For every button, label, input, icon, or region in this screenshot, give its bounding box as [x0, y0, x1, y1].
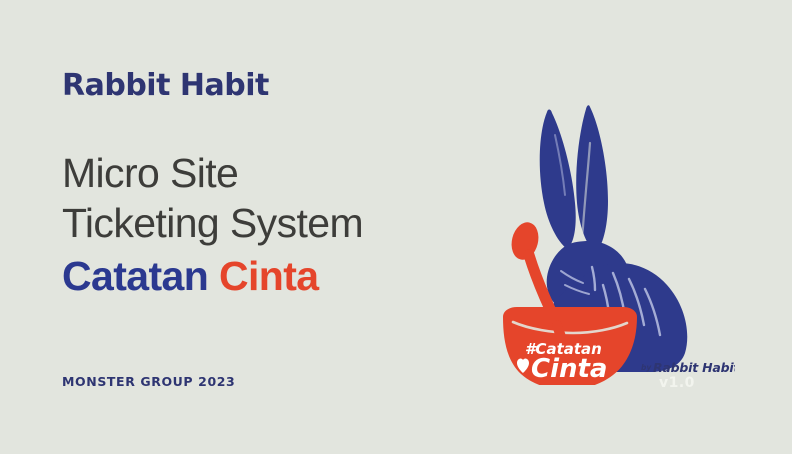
- headline-accent-line: Catatan Cinta: [62, 250, 482, 302]
- headline-line-1: Micro Site: [62, 148, 482, 198]
- byline-prefix: by: [641, 363, 652, 372]
- accent-word-cinta: Cinta: [219, 253, 319, 299]
- byline-brand: Rabbit Habit: [653, 360, 735, 375]
- headline-block: Micro Site Ticketing System Catatan Cint…: [62, 148, 482, 302]
- headline-line-2: Ticketing System: [62, 198, 482, 248]
- footer-credit-text: MONSTER GROUP 2023: [62, 374, 235, 389]
- brand-logo-text: Rabbit Habit: [62, 68, 269, 103]
- text-column: Rabbit Habit Micro Site Ticketing System…: [62, 0, 482, 454]
- bowl-label-cinta: Cinta: [531, 354, 607, 384]
- rabbit-illustration: #Catatan Cinta by Rabbit Habit: [495, 95, 735, 385]
- accent-word-catatan: Catatan: [62, 253, 208, 299]
- presentation-slide: Rabbit Habit Micro Site Ticketing System…: [0, 0, 792, 454]
